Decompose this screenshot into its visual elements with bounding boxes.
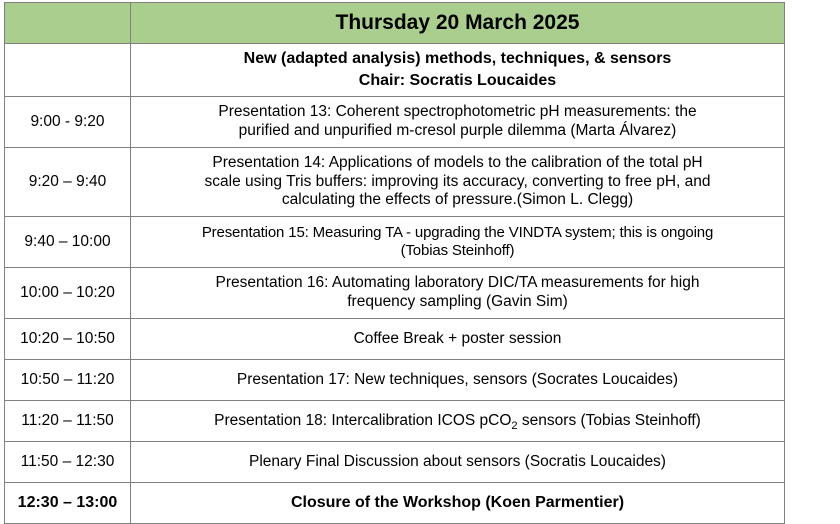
table-row: 12:30 – 13:00 Closure of the Workshop (K… [5, 483, 785, 524]
slot-time: 9:20 – 9:40 [5, 148, 131, 217]
slot-description: Closure of the Workshop (Koen Parmentier… [131, 483, 785, 524]
table-row: 9:20 – 9:40 Presentation 14: Application… [5, 148, 785, 217]
slot-description-line: (Tobias Steinhoff) [135, 242, 780, 260]
schedule-day-title: Thursday 20 March 2025 [131, 3, 785, 44]
session-title-cell: New (adapted analysis) methods, techniqu… [131, 44, 785, 97]
session-topic-label: New (adapted analysis) methods, techniqu… [135, 48, 780, 70]
table-row: 10:00 – 10:20 Presentation 16: Automatin… [5, 268, 785, 319]
slot-description-line: frequency sampling (Gavin Sim) [135, 293, 780, 312]
session-header-row: New (adapted analysis) methods, techniqu… [5, 44, 785, 97]
schedule-sheet: Thursday 20 March 2025 New (adapted anal… [0, 0, 840, 518]
slot-description-line: Presentation 15: Measuring TA - upgradin… [135, 224, 780, 242]
slot-description-text-post: sensors (Tobias Steinhoff) [518, 412, 701, 429]
slot-description: Presentation 18: Intercalibration ICOS p… [131, 401, 785, 442]
slot-description: Presentation 17: New techniques, sensors… [131, 360, 785, 401]
table-row: 9:00 - 9:20 Presentation 13: Coherent sp… [5, 97, 785, 148]
slot-time: 11:50 – 12:30 [5, 442, 131, 483]
slot-description: Presentation 15: Measuring TA - upgradin… [131, 217, 785, 268]
slot-description-text-pre: Presentation 18: Intercalibration ICOS p… [214, 412, 511, 429]
slot-description: Presentation 14: Applications of models … [131, 148, 785, 217]
slot-time: 9:40 – 10:00 [5, 217, 131, 268]
table-header-row: Thursday 20 March 2025 [5, 3, 785, 44]
slot-time: 12:30 – 13:00 [5, 483, 131, 524]
header-time-column-blank [5, 3, 131, 44]
slot-description-line: Presentation 17: New techniques, sensors… [135, 371, 780, 390]
slot-description-line: Coffee Break + poster session [135, 330, 780, 349]
slot-time: 11:20 – 11:50 [5, 401, 131, 442]
table-row: 11:50 – 12:30 Plenary Final Discussion a… [5, 442, 785, 483]
session-time-column-blank [5, 44, 131, 97]
slot-description-line: Presentation 13: Coherent spectrophotome… [135, 103, 780, 122]
slot-description-line: Presentation 18: Intercalibration ICOS p… [135, 412, 780, 431]
schedule-table: Thursday 20 March 2025 New (adapted anal… [4, 2, 785, 524]
slot-description-line: calculating the effects of pressure.(Sim… [135, 191, 780, 210]
slot-description: Presentation 16: Automating laboratory D… [131, 268, 785, 319]
slot-description-line: Plenary Final Discussion about sensors (… [135, 453, 780, 472]
slot-description: Presentation 13: Coherent spectrophotome… [131, 97, 785, 148]
slot-time: 10:00 – 10:20 [5, 268, 131, 319]
slot-description: Plenary Final Discussion about sensors (… [131, 442, 785, 483]
slot-description-line: Closure of the Workshop (Koen Parmentier… [135, 493, 780, 512]
slot-time: 10:50 – 11:20 [5, 360, 131, 401]
table-row: 10:50 – 11:20 Presentation 17: New techn… [5, 360, 785, 401]
slot-description-line: Presentation 14: Applications of models … [135, 154, 780, 173]
table-row: 11:20 – 11:50 Presentation 18: Intercali… [5, 401, 785, 442]
table-row: 10:20 – 10:50 Coffee Break + poster sess… [5, 319, 785, 360]
slot-description-line: purified and unpurified m-cresol purple … [135, 122, 780, 141]
session-chair-label: Chair: Socratis Loucaides [135, 70, 780, 92]
slot-time: 10:20 – 10:50 [5, 319, 131, 360]
slot-description: Coffee Break + poster session [131, 319, 785, 360]
slot-time: 9:00 - 9:20 [5, 97, 131, 148]
slot-description-line: Presentation 16: Automating laboratory D… [135, 274, 780, 293]
slot-description-line: scale using Tris buffers: improving its … [135, 173, 780, 192]
table-row: 9:40 – 10:00 Presentation 15: Measuring … [5, 217, 785, 268]
